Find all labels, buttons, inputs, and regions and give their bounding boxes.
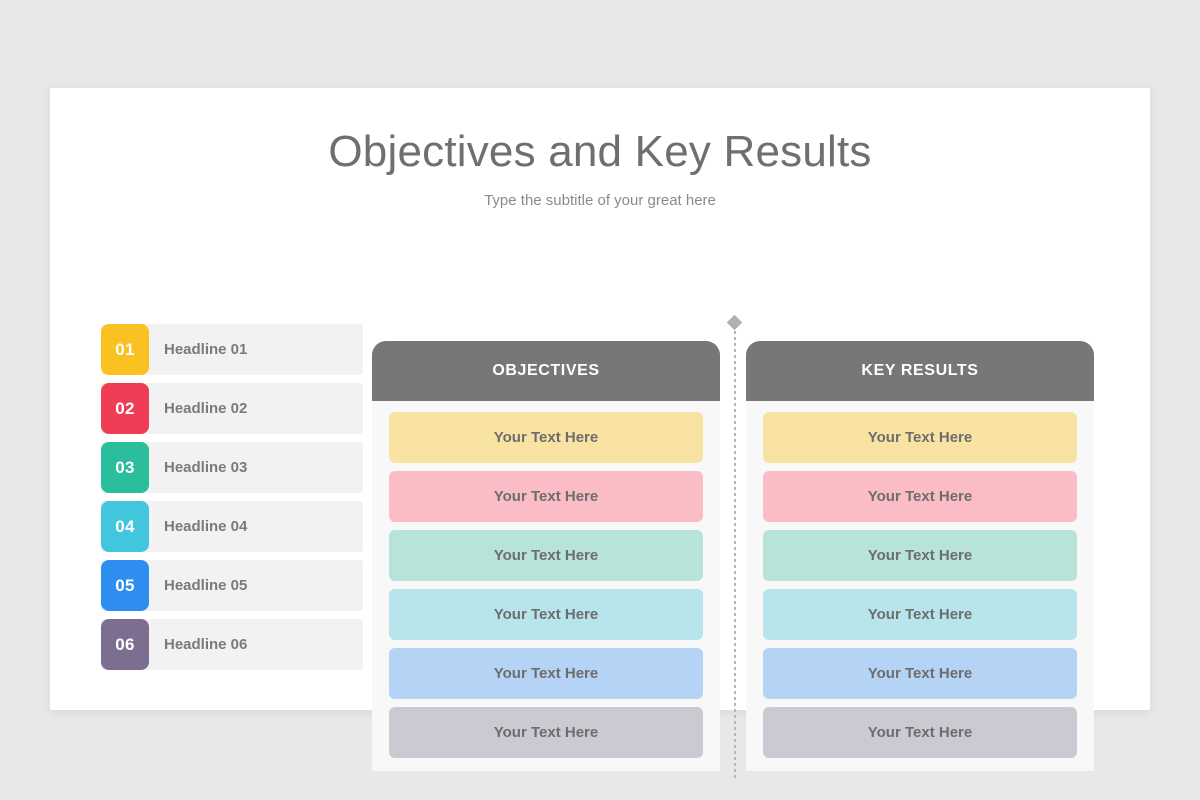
headline-label: Headline 06	[164, 636, 247, 653]
headline-label: Headline 04	[164, 518, 247, 535]
value-box[interactable]: Your Text Here	[763, 707, 1077, 758]
headline-number-badge: 02	[101, 383, 149, 434]
list-item[interactable]: 03Headline 03	[101, 442, 363, 493]
column-body-key-results: Your Text HereYour Text HereYour Text He…	[746, 401, 1094, 771]
value-box[interactable]: Your Text Here	[389, 589, 703, 640]
diamond-icon	[727, 315, 743, 331]
list-item[interactable]: 06Headline 06	[101, 619, 363, 670]
headline-label: Headline 01	[164, 341, 247, 358]
column-header-key-results: KEY RESULTS	[746, 341, 1094, 401]
value-box[interactable]: Your Text Here	[763, 471, 1077, 522]
page-title: Objectives and Key Results	[50, 128, 1150, 176]
value-box[interactable]: Your Text Here	[389, 471, 703, 522]
headline-label: Headline 05	[164, 577, 247, 594]
list-item[interactable]: 02Headline 02	[101, 383, 363, 434]
headline-number-badge: 06	[101, 619, 149, 670]
value-box[interactable]: Your Text Here	[763, 648, 1077, 699]
column-header-objectives: OBJECTIVES	[372, 341, 720, 401]
list-item[interactable]: 05Headline 05	[101, 560, 363, 611]
column-divider	[734, 331, 736, 778]
headline-list: 01Headline 0102Headline 0203Headline 030…	[101, 324, 363, 678]
value-box[interactable]: Your Text Here	[389, 707, 703, 758]
headline-number-badge: 03	[101, 442, 149, 493]
value-box[interactable]: Your Text Here	[763, 412, 1077, 463]
value-box[interactable]: Your Text Here	[389, 648, 703, 699]
slide-canvas: Objectives and Key Results Type the subt…	[50, 88, 1150, 710]
headline-label: Headline 02	[164, 400, 247, 417]
value-box[interactable]: Your Text Here	[389, 412, 703, 463]
value-box[interactable]: Your Text Here	[763, 530, 1077, 581]
headline-label: Headline 03	[164, 459, 247, 476]
headline-number-badge: 04	[101, 501, 149, 552]
title-block: Objectives and Key Results Type the subt…	[50, 128, 1150, 209]
list-item[interactable]: 01Headline 01	[101, 324, 363, 375]
column-key-results: KEY RESULTS Your Text HereYour Text Here…	[746, 341, 1094, 771]
column-objectives: OBJECTIVES Your Text HereYour Text HereY…	[372, 341, 720, 771]
page-subtitle: Type the subtitle of your great here	[50, 192, 1150, 209]
column-body-objectives: Your Text HereYour Text HereYour Text He…	[372, 401, 720, 771]
list-item[interactable]: 04Headline 04	[101, 501, 363, 552]
value-box[interactable]: Your Text Here	[763, 589, 1077, 640]
headline-number-badge: 05	[101, 560, 149, 611]
headline-number-badge: 01	[101, 324, 149, 375]
value-box[interactable]: Your Text Here	[389, 530, 703, 581]
